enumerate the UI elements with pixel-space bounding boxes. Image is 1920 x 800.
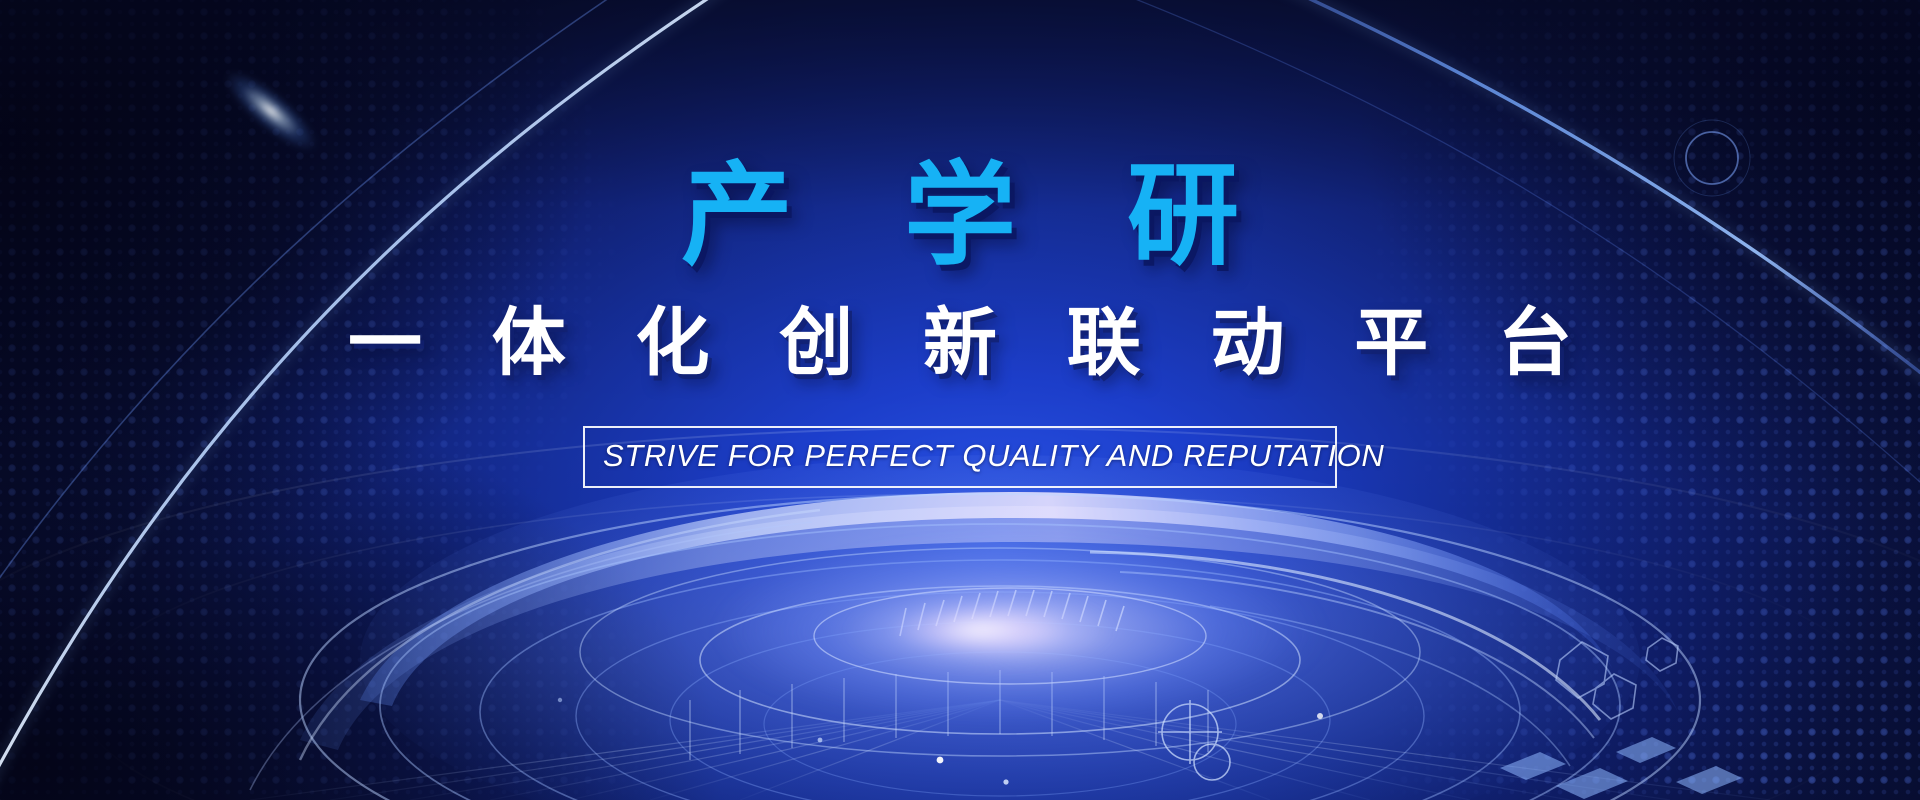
promo-banner: 产 学 研 一 体 化 创 新 联 动 平 台 STRIVE FOR PERFE… — [0, 0, 1920, 800]
banner-tagline: STRIVE FOR PERFECT QUALITY AND REPUTATIO… — [583, 426, 1337, 488]
banner-title-primary: 产 学 研 — [0, 0, 1920, 272]
banner-title-secondary: 一 体 化 创 新 联 动 平 台 — [0, 272, 1920, 380]
banner-tagline-container: STRIVE FOR PERFECT QUALITY AND REPUTATIO… — [583, 426, 1337, 488]
banner-content: 产 学 研 一 体 化 创 新 联 动 平 台 STRIVE FOR PERFE… — [0, 0, 1920, 488]
